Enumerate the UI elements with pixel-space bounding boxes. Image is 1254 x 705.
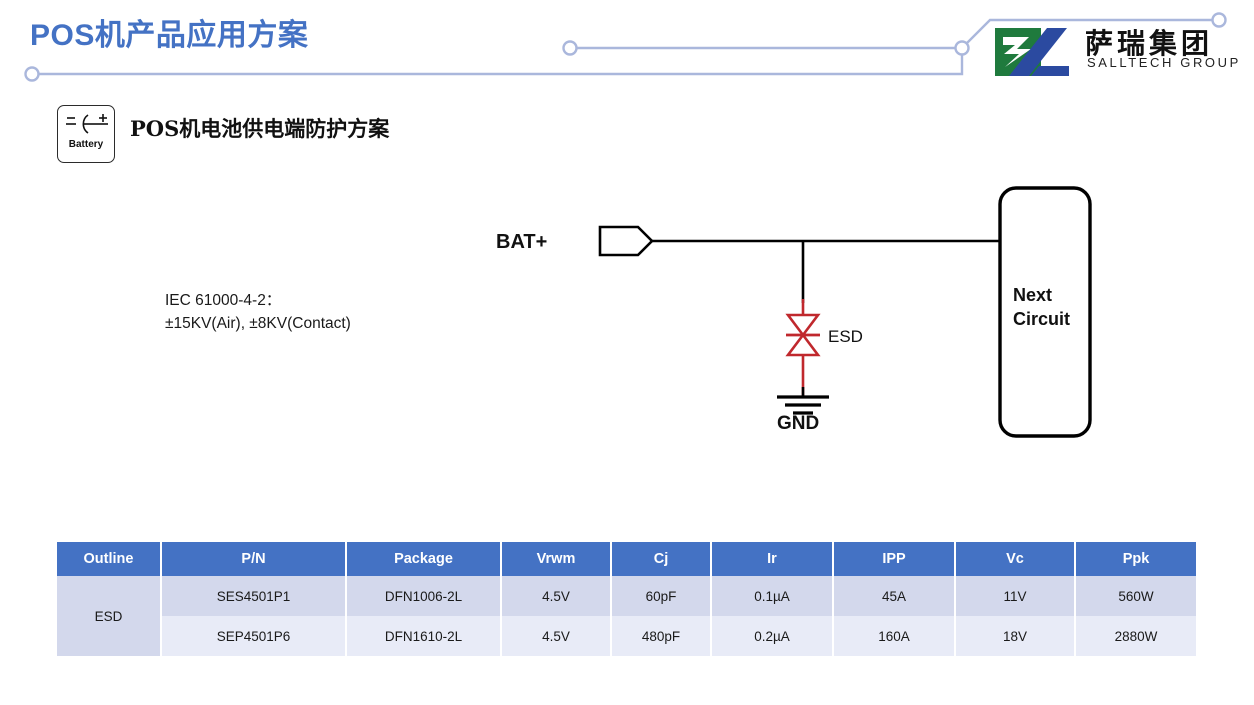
table-cell-package: DFN1006-2L <box>346 576 501 616</box>
table-cell-pn: SES4501P1 <box>161 576 346 616</box>
table-header-outline: Outline <box>57 542 161 576</box>
table-cell-ppk: 2880W <box>1075 616 1196 656</box>
table-row: ESD SES4501P1 DFN1006-2L 4.5V 60pF 0.1µA… <box>57 576 1196 616</box>
table-header-cj: Cj <box>611 542 711 576</box>
section-subtitle: POS机电池供电端防护方案 <box>130 113 389 143</box>
circuit-device-label: ESD <box>828 327 863 346</box>
table-cell-ir: 0.2µA <box>711 616 833 656</box>
table-cell-vc: 11V <box>955 576 1075 616</box>
ground-icon <box>777 387 829 413</box>
table-cell-ppk: 560W <box>1075 576 1196 616</box>
table-cell-vrwm: 4.5V <box>501 576 611 616</box>
parameter-table: Outline P/N Package Vrwm Cj Ir IPP Vc Pp… <box>57 542 1196 656</box>
decor-node-left-icon <box>26 68 39 81</box>
table-header-pn: P/N <box>161 542 346 576</box>
table-header-vc: Vc <box>955 542 1075 576</box>
table-cell-pn: SEP4501P6 <box>161 616 346 656</box>
table-row: SEP4501P6 DFN1610-2L 4.5V 480pF 0.2µA 16… <box>57 616 1196 656</box>
table-header-package: Package <box>346 542 501 576</box>
decor-node-mid-icon <box>564 42 577 55</box>
circuit-ground-label: GND <box>777 413 819 434</box>
battery-badge: Battery <box>57 105 115 163</box>
next-circuit-label-line2: Circuit <box>1013 309 1070 329</box>
brand-logo: 萨瑞集团 SALLTECH GROUP <box>995 22 1231 82</box>
table-cell-ipp: 45A <box>833 576 955 616</box>
page-title: POS机产品应用方案 <box>30 10 308 54</box>
table-cell-vc: 18V <box>955 616 1075 656</box>
table-cell-ir: 0.1µA <box>711 576 833 616</box>
spec-note: IEC 61000-4-2： ±15KV(Air), ±8KV(Contact) <box>165 289 351 335</box>
spec-note-line1: IEC 61000-4-2： <box>165 289 351 312</box>
table-header-row: Outline P/N Package Vrwm Cj Ir IPP Vc Pp… <box>57 542 1196 576</box>
table-header-ppk: Ppk <box>1075 542 1196 576</box>
battery-cell-icon <box>62 111 112 137</box>
decor-node-junction-icon <box>956 42 969 55</box>
table-cell-vrwm: 4.5V <box>501 616 611 656</box>
table-cell-cj: 60pF <box>611 576 711 616</box>
spec-note-line2: ±15KV(Air), ±8KV(Contact) <box>165 312 351 335</box>
table-cell-ipp: 160A <box>833 616 955 656</box>
circuit-input-label: BAT+ <box>496 231 547 253</box>
table-cell-package: DFN1610-2L <box>346 616 501 656</box>
table-cell-cj: 480pF <box>611 616 711 656</box>
input-connector-icon <box>600 227 652 255</box>
esd-diode-icon <box>786 299 820 397</box>
brand-name-en: SALLTECH GROUP <box>1087 55 1241 70</box>
next-circuit-label-line1: Next <box>1013 285 1052 305</box>
table-header-vrwm: Vrwm <box>501 542 611 576</box>
circuit-diagram: BAT+ ESD GND Next Circuit <box>470 175 1120 455</box>
table-cell-outline-group: ESD <box>57 576 161 656</box>
salltech-logo-mark-icon <box>995 28 1075 76</box>
table-header-ipp: IPP <box>833 542 955 576</box>
table-header-ir: Ir <box>711 542 833 576</box>
battery-badge-label: Battery <box>58 139 114 150</box>
